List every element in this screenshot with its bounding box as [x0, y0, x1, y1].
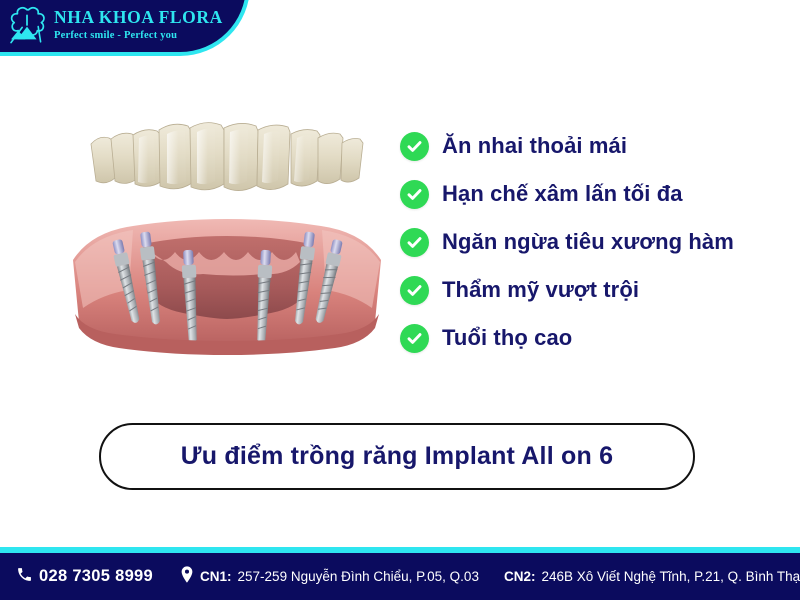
branch-2-address: 246B Xô Viết Nghệ Tĩnh, P.21, Q. Bình Th… [541, 569, 800, 584]
branch-1-address: 257-259 Nguyễn Đình Chiểu, P.05, Q.03 [238, 569, 479, 584]
branch-1-label: CN1: [200, 569, 232, 584]
check-circle-icon [400, 180, 429, 209]
benefit-label: Ăn nhai thoải mái [442, 133, 627, 159]
header-inner: NHA KHOA FLORA Perfect smile - Perfect y… [0, 0, 223, 45]
benefit-item: Tuổi thọ cao [400, 314, 800, 362]
benefit-item: Ngăn ngừa tiêu xương hàm [400, 218, 800, 266]
benefit-label: Thẩm mỹ vượt trội [442, 277, 639, 303]
header-logo-bar: NHA KHOA FLORA Perfect smile - Perfect y… [0, 0, 250, 56]
brand-name: NHA KHOA FLORA [54, 9, 223, 27]
footer-phone[interactable]: 028 7305 8999 [16, 566, 153, 588]
benefit-item: Hạn chế xâm lấn tối đa [400, 170, 800, 218]
branch-2-label: CN2: [504, 569, 536, 584]
benefit-item: Ăn nhai thoải mái [400, 122, 800, 170]
benefit-label: Tuổi thọ cao [442, 325, 572, 351]
dental-prosthesis-arch-image [55, 108, 400, 213]
page-title: Ưu điểm trồng răng Implant All on 6 [181, 442, 613, 471]
phone-icon [16, 566, 33, 588]
page-title-pill: Ưu điểm trồng răng Implant All on 6 [99, 423, 695, 490]
benefits-list: Ăn nhai thoải mái Hạn chế xâm lấn tối đa… [400, 122, 800, 362]
lower-jaw-with-six-implants-image [55, 218, 400, 368]
footer-branch-1[interactable]: CN1: 257-259 Nguyễn Đình Chiểu, P.05, Q.… [180, 566, 479, 588]
check-circle-icon [400, 228, 429, 257]
check-circle-icon [400, 276, 429, 305]
benefit-label: Hạn chế xâm lấn tối đa [442, 181, 683, 207]
footer-branch-2[interactable]: CN2: 246B Xô Viết Nghệ Tĩnh, P.21, Q. Bì… [504, 569, 800, 584]
clover-mountain-logo-icon [6, 5, 48, 45]
phone-number: 028 7305 8999 [39, 567, 153, 586]
benefit-item: Thẩm mỹ vượt trội [400, 266, 800, 314]
footer-contact-bar: 028 7305 8999 CN1: 257-259 Nguyễn Đình C… [0, 553, 800, 600]
implant-illustration [55, 100, 400, 380]
brand-tagline: Perfect smile - Perfect you [54, 31, 223, 42]
location-pin-icon [180, 566, 194, 588]
logo-text-block: NHA KHOA FLORA Perfect smile - Perfect y… [54, 9, 223, 41]
benefit-label: Ngăn ngừa tiêu xương hàm [442, 229, 734, 255]
check-circle-icon [400, 132, 429, 161]
check-circle-icon [400, 324, 429, 353]
